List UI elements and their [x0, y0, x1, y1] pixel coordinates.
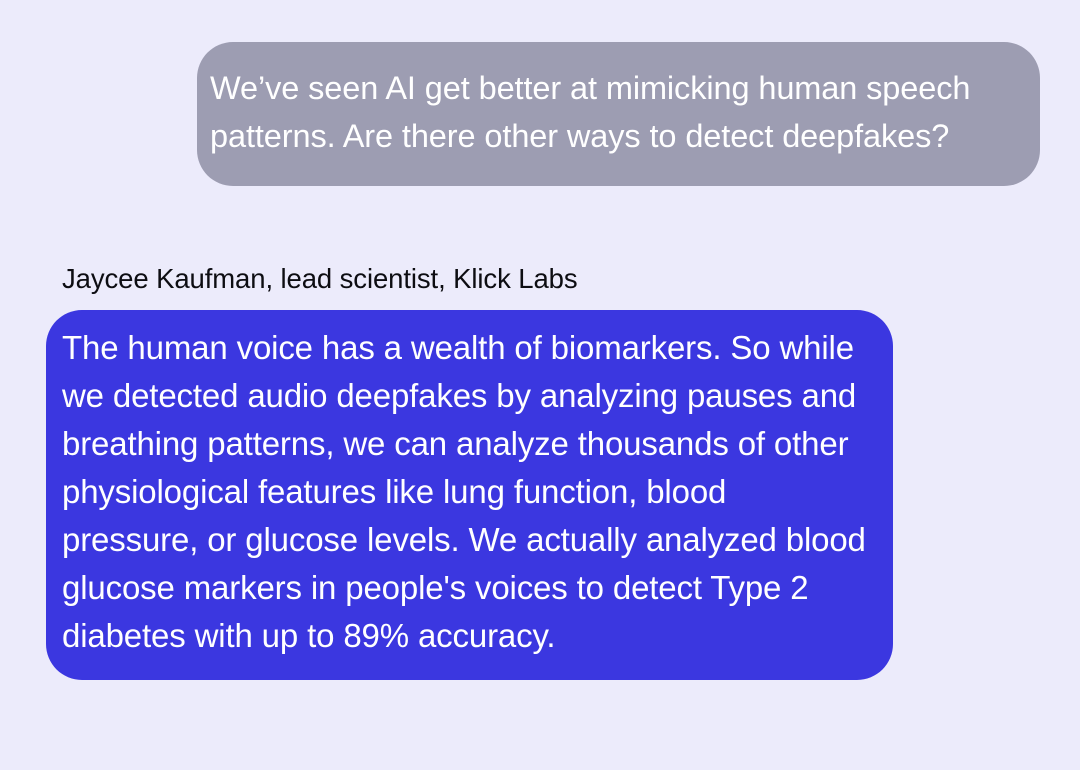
answer-text: The human voice has a wealth of biomarke… — [62, 324, 869, 660]
answer-bubble: The human voice has a wealth of biomarke… — [46, 310, 893, 680]
question-text: We’ve seen AI get better at mimicking hu… — [210, 64, 1010, 160]
question-bubble: We’ve seen AI get better at mimicking hu… — [197, 42, 1040, 186]
attribution-line: Jaycee Kaufman, lead scientist, Klick La… — [62, 262, 578, 296]
qa-card: We’ve seen AI get better at mimicking hu… — [0, 0, 1080, 770]
